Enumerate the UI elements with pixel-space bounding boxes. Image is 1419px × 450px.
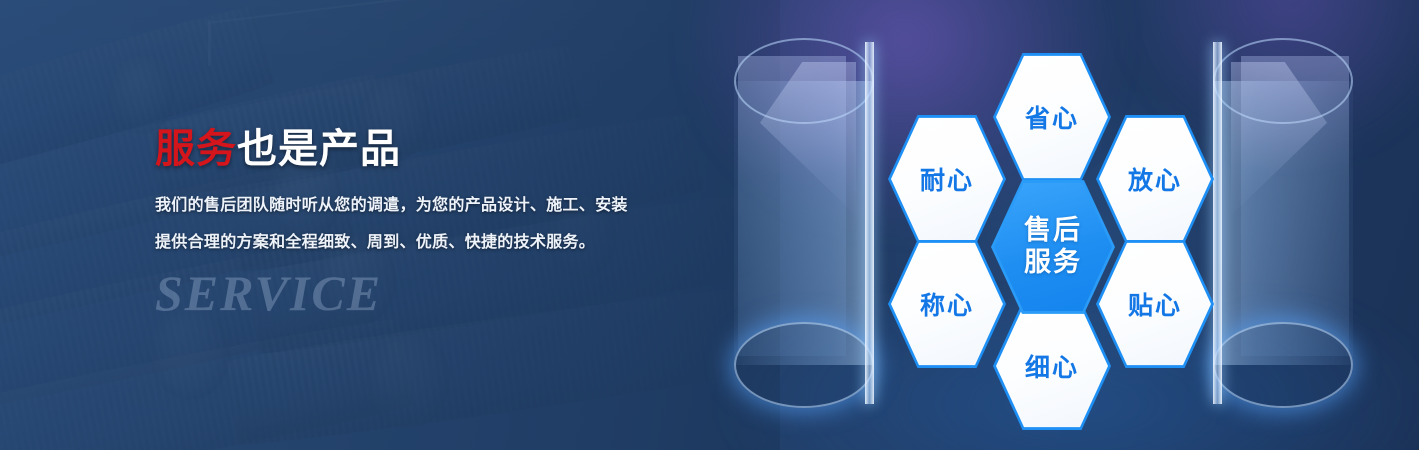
hex-chenxin-inner: 称心 [891,241,1003,367]
hex-chenxin-label: 称心 [920,286,974,322]
hex-fangxin-label: 放心 [1128,161,1182,197]
glass-body-right [1213,38,1353,408]
glass-bottom-ellipse-left [734,322,874,408]
body-line-2: 提供合理的方案和全程细致、周到、优质、快捷的技术服务。 [155,235,735,252]
hex-naixin-label: 耐心 [920,161,974,197]
banner-text-block: 服务也是产品 我们的售后团队随时听从您的调遣，为您的产品设计、施工、安装 提供合… [155,128,735,322]
glass-cylinder-left [734,38,874,408]
hex-tiexin-label: 贴心 [1128,286,1182,322]
glass-bottom-ellipse-right [1213,322,1353,408]
hex-tiexin[interactable]: 贴心 [1096,238,1214,370]
hex-tiexin-inner: 贴心 [1099,241,1211,367]
body-line-1: 我们的售后团队随时听从您的调遣，为您的产品设计、施工、安装 [155,198,735,215]
hex-shengxin-label: 省心 [1025,99,1079,135]
service-banner: 服务也是产品 我们的售后团队随时听从您的调遣，为您的产品设计、施工、安装 提供合… [0,0,1419,450]
hex-naixin[interactable]: 耐心 [888,113,1006,245]
hex-center-after-sales-service[interactable]: 售后 服务 [991,178,1115,316]
hex-shengxin-inner: 省心 [996,54,1108,180]
hex-center-label-line2: 服务 [1024,247,1082,279]
headline-rest: 也是产品 [237,127,401,171]
service-watermark: SERVICE [155,264,735,322]
after-sales-hex-diagram: 省心 耐心 放心 称心 贴心 细心 [880,50,1220,400]
headline-accent: 服务 [155,127,237,171]
hex-center-inner: 售后 服务 [994,181,1112,313]
hex-naixin-inner: 耐心 [891,116,1003,242]
hex-chenxin[interactable]: 称心 [888,238,1006,370]
glass-edge-left [865,42,874,404]
hex-center-label-line1: 售后 [1024,215,1082,247]
glass-cylinder-right [1213,38,1353,408]
hex-shengxin[interactable]: 省心 [993,51,1111,183]
page-title: 服务也是产品 [155,128,735,170]
hex-xixin-label: 细心 [1025,348,1079,384]
glass-body-left [734,38,874,408]
hex-fangxin-inner: 放心 [1099,116,1211,242]
hex-fangxin[interactable]: 放心 [1096,113,1214,245]
